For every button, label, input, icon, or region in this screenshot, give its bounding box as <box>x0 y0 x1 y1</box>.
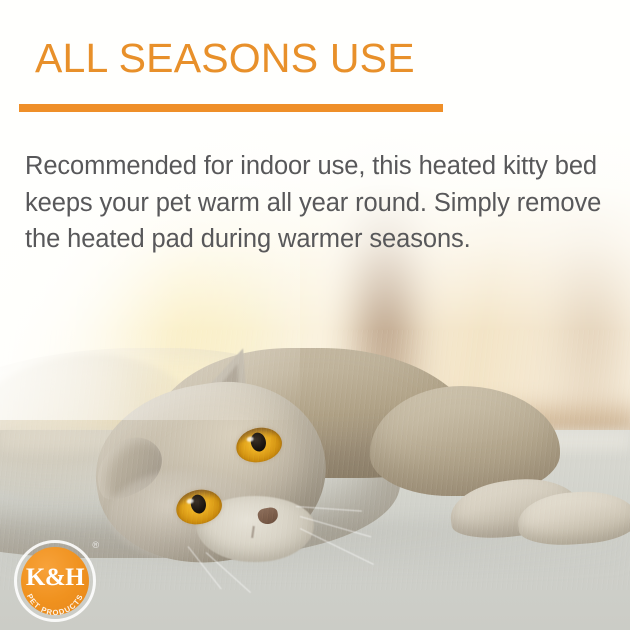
title-divider <box>19 104 443 112</box>
logo-tagline-arc: PET PRODUCTS <box>12 538 98 624</box>
page-title: ALL SEASONS USE <box>35 34 415 82</box>
registered-trademark-icon: ® <box>92 540 99 550</box>
brand-logo: K&H PET PRODUCTS ® <box>12 538 98 624</box>
body-paragraph: Recommended for indoor use, this heated … <box>25 148 615 258</box>
content-layer: ALL SEASONS USE Recommended for indoor u… <box>0 0 630 630</box>
logo-tagline-text: PET PRODUCTS <box>25 592 85 617</box>
promo-graphic: ALL SEASONS USE Recommended for indoor u… <box>0 0 630 630</box>
